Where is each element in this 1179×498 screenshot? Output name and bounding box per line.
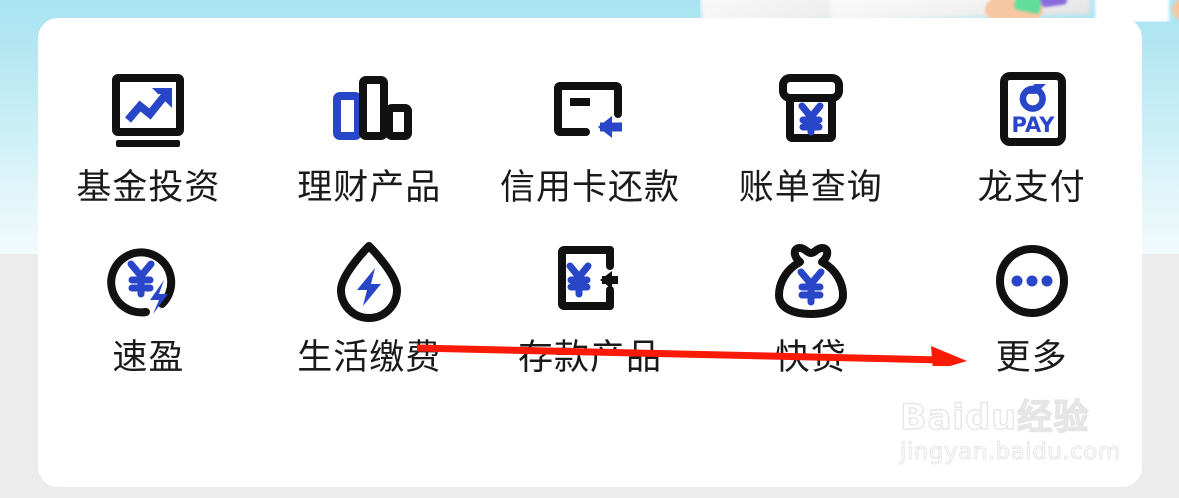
- service-label: 基金投资: [76, 166, 220, 210]
- service-item-credit-card-repayment[interactable]: 信用卡还款: [480, 70, 701, 210]
- service-item-fund-investment[interactable]: 基金投资: [38, 70, 259, 210]
- service-label: 生活缴费: [297, 336, 441, 380]
- water-drop-bolt-icon: [321, 240, 417, 328]
- service-item-more[interactable]: 更多: [921, 240, 1142, 380]
- services-row-1: 基金投资 理财产品: [38, 70, 1142, 210]
- service-item-suying[interactable]: 速盈: [38, 240, 259, 380]
- service-label: 更多: [996, 336, 1068, 380]
- chart-growth-icon: [100, 70, 196, 158]
- more-dots-circle-icon: [984, 240, 1080, 328]
- services-row-2: 速盈 生活缴费: [38, 240, 1142, 380]
- service-item-long-pay[interactable]: PAY 龙支付: [921, 70, 1142, 210]
- service-label: 速盈: [112, 336, 184, 380]
- service-label: 龙支付: [978, 166, 1086, 210]
- ccb-pay-logo-text: PAY: [1011, 113, 1055, 137]
- service-item-bill-inquiry[interactable]: 账单查询: [700, 70, 921, 210]
- bar-chart-icon: [321, 70, 417, 158]
- services-card: 基金投资 理财产品: [38, 18, 1142, 487]
- service-label: 理财产品: [297, 166, 441, 210]
- service-item-deposit-products[interactable]: 存款产品: [480, 240, 701, 380]
- service-item-quick-loan[interactable]: 快贷: [700, 240, 921, 380]
- service-label: 信用卡还款: [500, 166, 680, 210]
- credit-card-repay-icon: [542, 70, 638, 158]
- service-label: 快贷: [775, 336, 847, 380]
- service-label: 存款产品: [518, 336, 662, 380]
- deposit-yen-arrow-icon: [542, 240, 638, 328]
- banner-peach-blob-2: [1172, 0, 1179, 22]
- money-bag-yen-icon: [763, 240, 859, 328]
- screen-root: 基金投资 理财产品: [0, 0, 1179, 498]
- services-grid: 基金投资 理财产品: [38, 70, 1142, 380]
- service-label: 账单查询: [739, 166, 883, 210]
- bill-box-yen-icon: [763, 70, 859, 158]
- service-item-wealth-products[interactable]: 理财产品: [259, 70, 480, 210]
- yen-circle-bolt-icon: [100, 240, 196, 328]
- ccb-pay-icon: PAY: [984, 70, 1080, 158]
- service-item-life-payment[interactable]: 生活缴费: [259, 240, 480, 380]
